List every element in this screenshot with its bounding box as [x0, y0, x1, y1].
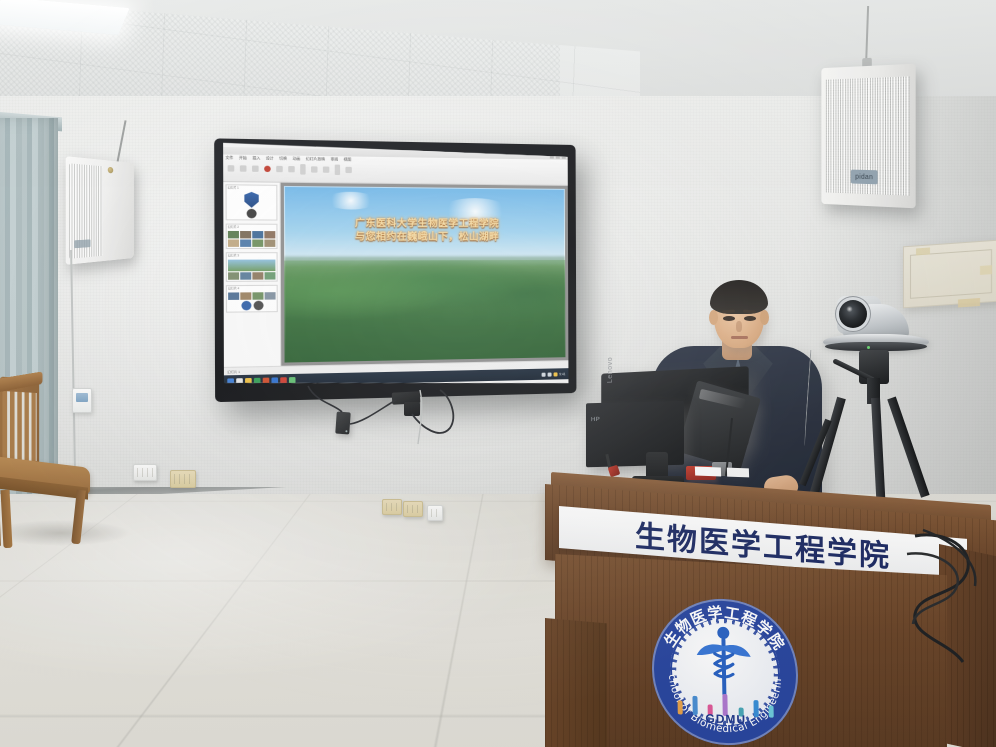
arrange-icon[interactable]: [345, 167, 351, 173]
monitor-brand-label: Lenovo: [607, 357, 614, 384]
speaker-badge-right: pidan: [851, 170, 878, 185]
room-photo: pidan: [0, 0, 996, 747]
slide-thumbnail[interactable]: 幻灯片 4: [226, 285, 278, 313]
ribbon-tab[interactable]: 文件: [225, 156, 233, 161]
ribbon-buttons[interactable]: [228, 163, 352, 175]
cable: [412, 390, 453, 433]
current-slide[interactable]: 广东医科大学生物医学工程学院 与您相约在巍峨山下，松山湖畔: [284, 186, 566, 363]
slide-title-text: 广东医科大学生物医学工程学院 与您相约在巍峨山下，松山湖畔: [299, 218, 552, 245]
search-icon[interactable]: [236, 378, 243, 384]
taskbar-clock[interactable]: 9:41: [559, 372, 565, 376]
cable: [350, 400, 396, 424]
ribbon-tab[interactable]: 插入: [252, 156, 260, 161]
thumbnail-label: 幻灯片 1: [228, 186, 275, 191]
ribbon-tab[interactable]: 视图: [344, 157, 352, 162]
picture-icon[interactable]: [323, 166, 329, 172]
textbox-icon[interactable]: [335, 165, 340, 175]
slide-thumbnail[interactable]: 幻灯片 2: [226, 224, 278, 249]
university-crest-icon: [244, 192, 258, 208]
wall-outlet: [427, 505, 443, 521]
tape-mark: [958, 298, 980, 308]
wooden-chair: [0, 378, 96, 550]
cloud: [325, 192, 377, 210]
logo-icon: [241, 301, 251, 311]
tape-mark: [980, 265, 992, 275]
logo-icon: [247, 209, 257, 219]
logo-icon: [253, 301, 263, 311]
network-icon[interactable]: [541, 372, 545, 376]
floor-cables: [905, 530, 996, 680]
thumbnail-label: 幻灯片 4: [228, 287, 275, 292]
cable: [418, 390, 422, 444]
ribbon-tab[interactable]: 审阅: [330, 157, 338, 162]
paper-sheet: [727, 468, 749, 478]
file-explorer-icon[interactable]: [245, 377, 252, 383]
start-icon[interactable]: [227, 378, 234, 383]
slide-line-1: 广东医科大学生物医学工程学院: [299, 218, 552, 232]
ribbon-tab[interactable]: 幻灯片放映: [306, 157, 325, 163]
shape-icon[interactable]: [300, 164, 305, 175]
display-screen[interactable]: 文件 开始 插入 设计 切换 动画 幻灯片放映 审阅 视图: [223, 143, 568, 383]
speaker-screw-icon: [108, 167, 113, 174]
camera-status-led: [867, 346, 870, 349]
ribbon-tab[interactable]: 切换: [279, 156, 287, 161]
volume-icon[interactable]: [547, 372, 551, 376]
wall-speaker-right: pidan: [821, 64, 915, 209]
ribbon-tab[interactable]: 动画: [292, 157, 300, 162]
thumbnail-label: 幻灯片 2: [228, 226, 275, 230]
browser-icon[interactable]: [280, 377, 287, 383]
slide-thumbnail[interactable]: 幻灯片 3: [226, 252, 278, 282]
status-text: 幻灯片 1: [227, 369, 240, 374]
wall-display[interactable]: 文件 开始 插入 设计 切换 动画 幻灯片放映 审阅 视图: [214, 138, 576, 402]
word-icon[interactable]: [271, 377, 278, 383]
display-cables: [300, 388, 480, 450]
powerpoint-window[interactable]: 文件 开始 插入 设计 切换 动画 幻灯片放映 审阅 视图: [223, 147, 568, 383]
paper-sheet: [695, 467, 721, 477]
slide-thumbnail-panel[interactable]: 幻灯片 1 幻灯片 2: [223, 182, 281, 367]
cable: [308, 386, 342, 412]
italic-icon[interactable]: [288, 166, 295, 172]
wall-outlet: [403, 501, 423, 517]
ribbon-toolbar[interactable]: 文件 开始 插入 设计 切换 动画 幻灯片放映 审阅 视图: [223, 154, 568, 185]
align-icon[interactable]: [311, 166, 318, 172]
chair-leg: [0, 490, 12, 548]
ribbon-tab[interactable]: 开始: [239, 156, 247, 161]
system-tray[interactable]: 9:41: [541, 372, 565, 377]
chair-back-slats: [2, 391, 36, 463]
excel-icon[interactable]: [254, 377, 261, 383]
slide-line-2: 与您相约在巍峨山下，松山湖畔: [299, 231, 552, 245]
presenter-eye: [744, 316, 756, 321]
ribbon-tabs[interactable]: 文件 开始 插入 设计 切换 动画 幻灯片放映 审阅 视图: [225, 156, 351, 163]
camera-lens-icon: [839, 300, 867, 328]
lectern-base: [545, 618, 607, 747]
presenter-hair: [710, 280, 768, 314]
speaker-badge-left: [74, 239, 90, 248]
taskbar-icons[interactable]: [227, 377, 295, 384]
powerpoint-icon[interactable]: [263, 377, 270, 383]
font-icon[interactable]: [252, 165, 259, 171]
wall-outlet: [382, 499, 402, 515]
mountain-range: [284, 260, 565, 363]
cut-icon[interactable]: [240, 165, 247, 171]
notification-icon[interactable]: [553, 372, 557, 376]
school-emblem: 生物医学工程学院 School of Biomedical Engineerin…: [648, 593, 803, 747]
slide-thumbnail[interactable]: 幻灯片 1: [225, 184, 277, 220]
monitor-brand-label: HP: [591, 417, 600, 423]
paste-icon[interactable]: [228, 165, 235, 171]
wall-speaker-left: [66, 156, 134, 265]
wall-outlet: [170, 470, 196, 488]
record-icon[interactable]: [264, 166, 271, 172]
ribbon-tab[interactable]: 设计: [266, 156, 274, 161]
wall-outlet: [133, 464, 157, 481]
tape-mark: [916, 247, 930, 255]
slide-editing-area[interactable]: 广东医科大学生物医学工程学院 与您相约在巍峨山下，松山湖畔: [281, 183, 569, 366]
presenter-eye: [723, 316, 735, 321]
thumbnail-label: 幻灯片 3: [228, 254, 275, 258]
bold-icon[interactable]: [276, 166, 283, 172]
monitor-secondary: HP: [586, 401, 684, 468]
messenger-icon[interactable]: [289, 377, 296, 383]
